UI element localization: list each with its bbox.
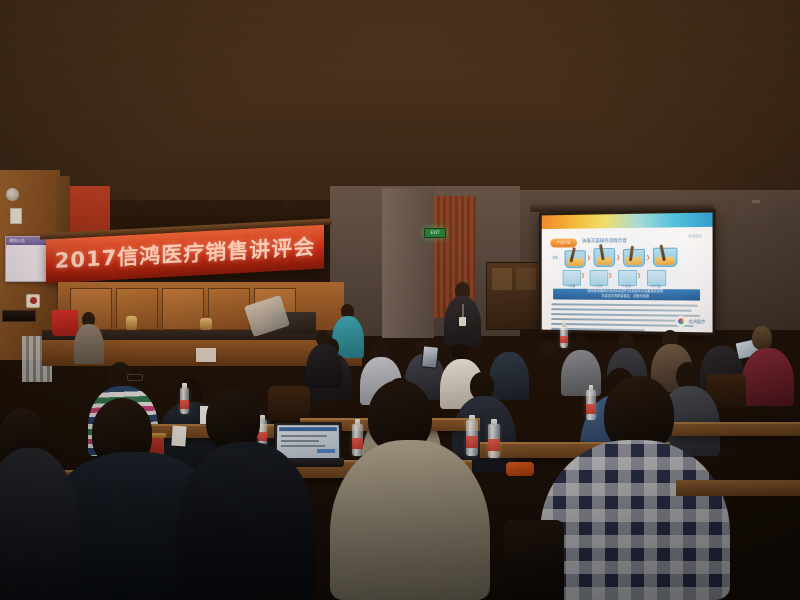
projection-screen: 产品介绍 消毒灭菌操作流程示意 信鸿医疗 ❯ ❯ ❯ 浸泡 (1 <box>539 209 716 335</box>
red-handbag <box>52 310 78 336</box>
diagram-vessel-3 <box>623 249 645 267</box>
slide-note: 信鸿医疗 <box>688 233 702 238</box>
eyeglasses-icon <box>127 374 143 381</box>
slide-badge: 产品介绍 <box>550 238 577 247</box>
foreground-person-right-checkered <box>540 440 730 600</box>
diagram-arrow-2: ❯ <box>616 256 620 261</box>
audience-person <box>561 350 601 396</box>
slide-body-line <box>551 318 677 322</box>
water-bottle <box>466 420 478 456</box>
counter-person-body <box>74 324 104 364</box>
wall-sensor <box>6 188 19 201</box>
chair-foreground <box>504 520 564 600</box>
foreground-person-center <box>330 440 490 600</box>
foreground-head-right2 <box>206 388 260 450</box>
slide-body-line <box>551 308 692 312</box>
diagram-left-caption: 浸泡 <box>546 255 565 259</box>
wall-nameplate <box>2 310 36 322</box>
company-logo-text: 信鸿医疗 <box>689 318 706 324</box>
slide-body-line <box>551 303 698 307</box>
back-wall <box>0 0 800 200</box>
slide-minibox-label-1: (1)准备 <box>559 284 583 288</box>
slide-logo: 信鸿医疗 <box>675 316 705 328</box>
exit-sign-text: EXIT <box>425 229 445 237</box>
water-bottle <box>352 424 363 456</box>
presentation-slide: 产品介绍 消毒灭菌操作流程示意 信鸿医疗 ❯ ❯ ❯ 浸泡 (1 <box>542 213 713 333</box>
slide-body-line <box>551 323 694 328</box>
company-logo-icon <box>675 316 686 327</box>
slide-title: 消毒灭菌操作流程示意 <box>582 238 627 244</box>
diagram-arrow-3: ❯ <box>646 256 650 261</box>
water-bottle <box>586 390 596 420</box>
chair-back <box>268 386 310 420</box>
wall-switch-plate <box>10 208 22 224</box>
water-bottle <box>180 388 189 414</box>
audience-head <box>752 326 772 350</box>
smartphone-raised[interactable] <box>421 345 439 369</box>
slide-header-gradient <box>542 213 713 230</box>
slide-minibox-label-4: (4)干燥 <box>643 284 668 288</box>
wall-pillar <box>382 188 434 338</box>
presenter-badge <box>459 317 466 326</box>
paper-sheet <box>196 348 216 362</box>
audience-person <box>742 348 794 406</box>
slide-minibox-label-3: (3)消毒 <box>614 284 639 288</box>
audience-person <box>489 352 529 400</box>
paper-sheet <box>171 426 186 447</box>
orange-object <box>506 462 534 476</box>
foreground-person-right2 <box>176 442 316 600</box>
photo-scene: 通知公告 EXIT 2017信鸿医疗销售讲评会 产品介绍 消毒灭菌操作流程示意 … <box>0 0 800 600</box>
water-bottle <box>488 424 500 458</box>
exit-sign: EXIT <box>424 228 446 238</box>
slide-highlight-bar: 使用医用器械清洗消毒机进行清洗消毒可显著提高效率 并保证清洗质量稳定、过程可追溯 <box>553 289 700 301</box>
diagram-vessel-1 <box>565 250 586 268</box>
wall-emblem-sticker <box>26 294 40 308</box>
slide-minibox-label-2: (2)清洗 <box>586 284 610 288</box>
slide-highlight-line-2: 并保证清洗质量稳定、过程可追溯 <box>553 294 700 300</box>
presenter-badge-lanyard <box>462 304 464 318</box>
audience-person-suit <box>306 344 342 388</box>
diagram-arrow-1: ❯ <box>587 256 591 261</box>
table-foreground-right <box>676 480 800 496</box>
audience-table-far-right <box>672 422 800 436</box>
slide-badge-text: 产品介绍 <box>550 238 577 247</box>
water-bottle <box>560 326 568 348</box>
